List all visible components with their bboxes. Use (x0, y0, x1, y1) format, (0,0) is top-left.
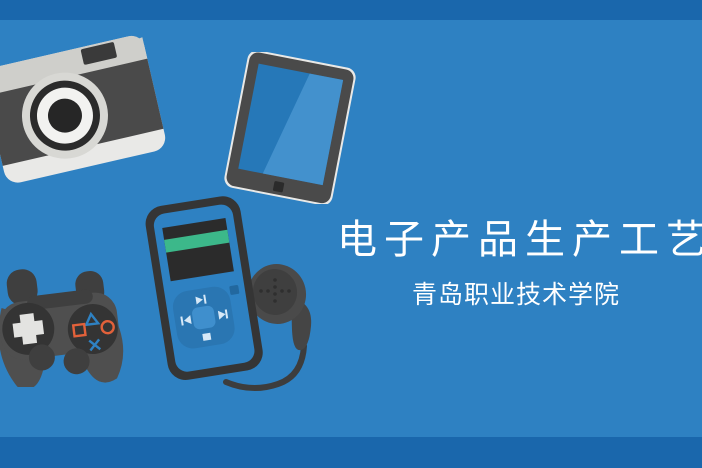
tablet-illustration (214, 52, 369, 204)
slide-canvas: 电子产品生产工艺 青岛职业技术学院 (0, 0, 702, 468)
page-subtitle: 青岛职业技术学院 (330, 280, 702, 310)
camera-illustration (0, 18, 166, 203)
top-accent-band (0, 0, 702, 20)
gamepad-illustration (0, 262, 148, 387)
title-block: 电子产品生产工艺 青岛职业技术学院 (330, 214, 702, 310)
page-title: 电子产品生产工艺 (330, 214, 702, 266)
mp3-player-illustration (130, 190, 280, 385)
bottom-accent-band (0, 437, 702, 468)
